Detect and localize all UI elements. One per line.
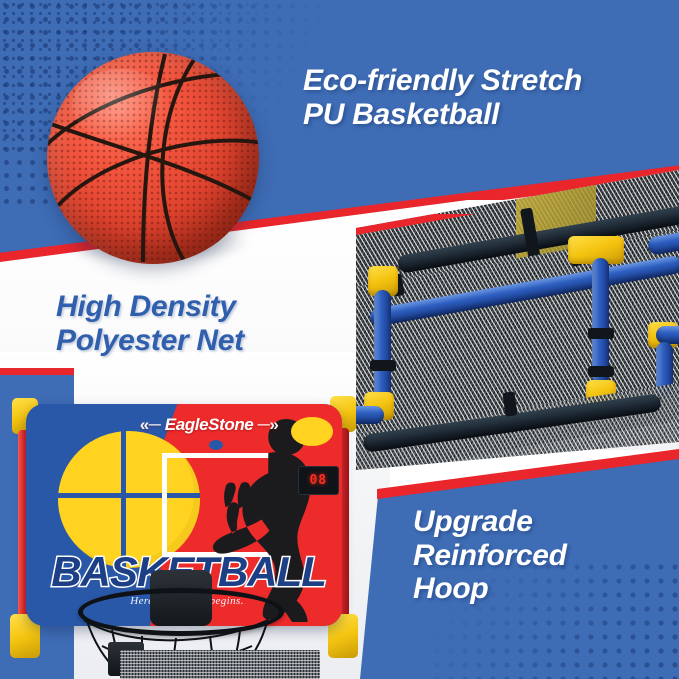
basketball-photo xyxy=(47,52,263,268)
feature-headline-ball: Eco-friendly Stretch PU Basketball xyxy=(303,64,582,131)
logo-wing-right-icon: ─» xyxy=(258,415,279,434)
brand-logo: «─ EagleStone ─» xyxy=(140,415,279,435)
net-frame-right-rail-2 xyxy=(656,326,679,344)
hoop-backboard-photo: 08 «─ EagleStone ─» BASKETBALL Here is w… xyxy=(0,392,370,679)
backboard-mini-basketball xyxy=(291,417,332,446)
feature-headline-net: High Density Polyester Net xyxy=(56,290,244,357)
net-frame-band xyxy=(588,328,614,339)
hoop-base-mesh xyxy=(120,650,320,679)
led-scoreboard-icon: 08 xyxy=(298,466,339,495)
red-accent-stripe-left xyxy=(0,368,74,375)
net-frame-band xyxy=(588,366,614,377)
basketball-highlight xyxy=(72,69,170,141)
net-frame-band xyxy=(370,360,396,371)
brand-logo-text: EagleStone xyxy=(165,415,254,434)
feature-headline-hoop: Upgrade Reinforced Hoop xyxy=(413,505,567,606)
scoreboard-value: 08 xyxy=(309,473,327,488)
basketball-icon xyxy=(47,52,259,264)
logo-wing-left-icon: «─ xyxy=(140,415,161,434)
product-infographic-poster: Eco-friendly Stretch PU Basketball xyxy=(0,0,679,679)
